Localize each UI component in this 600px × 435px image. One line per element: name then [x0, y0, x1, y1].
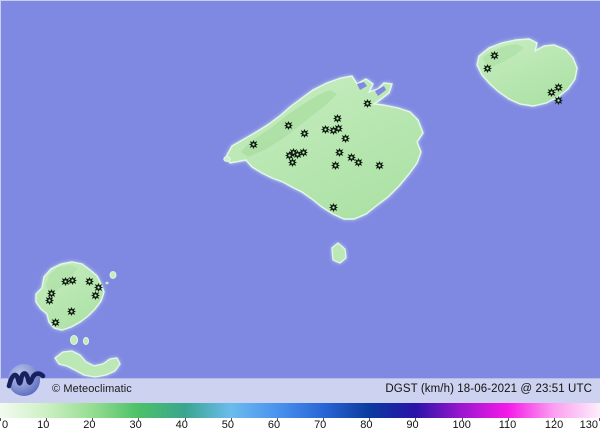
- scale-tick-label: 100: [453, 419, 471, 431]
- scale-tick-mark: [0, 418, 1, 421]
- scale-tick-label: 120: [545, 419, 563, 431]
- scale-tick-label: 90: [406, 419, 418, 431]
- station-marker[interactable]: [335, 148, 344, 157]
- station-marker[interactable]: [51, 318, 60, 327]
- station-marker[interactable]: [354, 158, 363, 167]
- station-marker[interactable]: [554, 83, 563, 92]
- station-marker[interactable]: [341, 134, 350, 143]
- station-marker[interactable]: [329, 203, 338, 212]
- meteoclimatic-logo[interactable]: [4, 361, 46, 401]
- station-marker[interactable]: [249, 140, 258, 149]
- station-marker[interactable]: [91, 291, 100, 300]
- station-marker[interactable]: [483, 64, 492, 73]
- scale-tick-label: 50: [222, 419, 234, 431]
- station-marker[interactable]: [284, 121, 293, 130]
- scale-tick-label: 110: [499, 419, 517, 431]
- scale-tick-label: 130: [580, 419, 598, 431]
- color-scale-gradient-bar[interactable]: [0, 403, 600, 418]
- station-marker[interactable]: [363, 99, 372, 108]
- station-marker[interactable]: [299, 148, 308, 157]
- scale-tick-label: 70: [314, 419, 326, 431]
- weather-map-screenshot: © Meteoclimatic DGST (km/h) 18-06-2021 @…: [0, 0, 600, 435]
- islands-vector-map: [0, 0, 600, 378]
- station-marker[interactable]: [85, 277, 94, 286]
- variable-timestamp-label: DGST (km/h) 18-06-2021 @ 23:51 UTC: [385, 383, 592, 395]
- station-marker[interactable]: [554, 96, 563, 105]
- scale-tick-label: 40: [176, 419, 188, 431]
- map-canvas[interactable]: [0, 0, 600, 378]
- scale-tick-label: 0: [2, 419, 8, 431]
- footer-bar: © Meteoclimatic DGST (km/h) 18-06-2021 @…: [0, 378, 600, 404]
- station-marker[interactable]: [333, 114, 342, 123]
- scale-tick-label: 10: [37, 419, 49, 431]
- color-scale-legend: 0102030405060708090100110120130: [0, 403, 600, 435]
- map-frame-left-edge: [0, 0, 1, 378]
- station-marker[interactable]: [45, 296, 54, 305]
- copyright-label: © Meteoclimatic: [52, 383, 132, 395]
- station-marker[interactable]: [334, 124, 343, 133]
- station-marker[interactable]: [68, 276, 77, 285]
- station-marker[interactable]: [300, 129, 309, 138]
- scale-tick-label: 30: [129, 419, 141, 431]
- station-marker[interactable]: [67, 307, 76, 316]
- island-dragonera: [224, 157, 230, 162]
- station-marker[interactable]: [375, 161, 384, 170]
- scale-tick-label: 20: [83, 419, 95, 431]
- color-scale-tick-labels: 0102030405060708090100110120130: [0, 418, 600, 435]
- station-marker[interactable]: [331, 161, 340, 170]
- scale-tick-label: 60: [268, 419, 280, 431]
- map-frame-top-edge: [0, 0, 600, 1]
- station-marker[interactable]: [288, 158, 297, 167]
- logo-mark-icon: [4, 361, 46, 401]
- scale-tick-label: 80: [360, 419, 372, 431]
- station-marker[interactable]: [490, 51, 499, 60]
